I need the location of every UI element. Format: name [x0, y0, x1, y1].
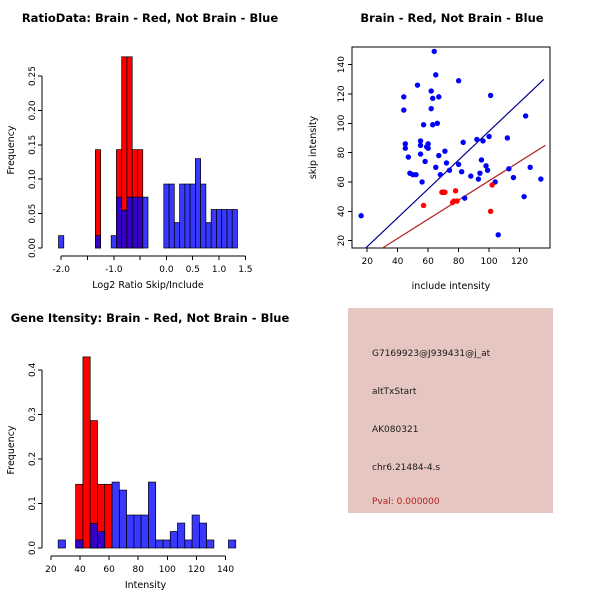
scatter-point	[447, 168, 452, 173]
scatter-point	[422, 159, 427, 164]
histogram-bar	[227, 209, 232, 248]
histogram-bar	[76, 484, 83, 548]
y-axis-label: Frequency	[6, 125, 17, 174]
x-axis-label: include intensity	[412, 281, 491, 292]
histogram-bar	[137, 197, 142, 248]
ratio-histogram-svg: RatioData: Brain - Red, Not Brain - Blue…	[0, 0, 300, 300]
figure-canvas: RatioData: Brain - Red, Not Brain - Blue…	[0, 0, 600, 600]
x-tick-label: 120	[188, 565, 205, 575]
scatter-point	[435, 121, 440, 126]
scatter-point	[488, 209, 493, 214]
coordinate-text: chr6.21484-4.s	[372, 463, 440, 473]
histogram-bar	[211, 209, 216, 248]
histogram-bar	[122, 210, 127, 248]
x-axis-label: Intensity	[125, 580, 167, 591]
ratio-histogram-title: RatioData: Brain - Red, Not Brain - Blue	[22, 11, 279, 25]
scatter-point	[477, 170, 482, 175]
histogram-bar	[112, 482, 119, 548]
scatter-point	[523, 113, 528, 118]
panel-intensity-scatter: Brain - Red, Not Brain - Blue 2040608010…	[300, 0, 600, 300]
plot-frame	[352, 47, 550, 248]
scatter-point	[418, 151, 423, 156]
scatter-point	[425, 141, 430, 146]
scatter-point	[413, 172, 418, 177]
pval-text: Pval: 0.000000	[372, 497, 440, 507]
scatter-point	[418, 143, 423, 148]
x-tick-label: 0.5	[186, 265, 200, 275]
scatter-point	[521, 194, 526, 199]
histogram-bar	[141, 515, 148, 548]
y-tick-label: 40	[337, 205, 347, 217]
gene-histogram-plot-area: 0.00.10.20.30.4Frequency2040608010012014…	[6, 357, 236, 591]
histogram-bar	[143, 197, 148, 248]
histogram-bar	[164, 184, 169, 248]
histogram-bar	[163, 540, 170, 548]
histogram-bar	[90, 524, 97, 549]
histogram-bar	[174, 223, 179, 248]
x-tick-label: -2.0	[52, 265, 70, 275]
histogram-bar	[228, 540, 235, 548]
scatter-inner	[358, 49, 545, 248]
scatter-point	[488, 93, 493, 98]
points-brain-red	[421, 182, 495, 214]
scatter-point	[436, 94, 441, 99]
y-tick-label: 20	[337, 235, 347, 247]
histogram-bar	[97, 532, 104, 548]
intensity-scatter-svg: Brain - Red, Not Brain - Blue 2040608010…	[300, 0, 600, 300]
series-brain-red	[76, 357, 112, 548]
scatter-point	[476, 176, 481, 181]
y-tick-label: 60	[337, 176, 347, 188]
histogram-bar	[95, 150, 100, 248]
scatter-point	[506, 166, 511, 171]
scatter-point	[358, 213, 363, 218]
histogram-bar	[148, 482, 155, 548]
histogram-bar	[132, 197, 137, 248]
scatter-point	[429, 106, 434, 111]
x-tick-label: 80	[453, 257, 465, 267]
scatter-point	[486, 134, 491, 139]
scatter-point	[442, 148, 447, 153]
scatter-point	[480, 138, 485, 143]
scatter-point	[436, 153, 441, 158]
histogram-bar	[111, 236, 116, 248]
y-tick-label: 0.2	[28, 452, 38, 466]
scatter-point	[421, 203, 426, 208]
ratio-histogram-plot-area: 0.000.050.100.150.200.25Frequency-2.0-1.…	[6, 57, 253, 291]
histogram-bar	[76, 540, 83, 548]
y-tick-label: 0.1	[28, 496, 38, 510]
scatter-point	[454, 198, 459, 203]
histogram-bar	[190, 184, 195, 248]
histogram-bar	[232, 209, 237, 248]
scatter-point	[462, 195, 467, 200]
accession-text: AK080321	[372, 425, 418, 435]
scatter-point	[432, 49, 437, 54]
scatter-point	[442, 190, 447, 195]
x-tick-label: 140	[217, 565, 234, 575]
y-tick-label: 0.3	[28, 407, 38, 421]
panel-ratio-histogram: RatioData: Brain - Red, Not Brain - Blue…	[0, 0, 300, 300]
x-tick-label: 0.0	[159, 265, 174, 275]
histogram-bar	[206, 223, 211, 248]
event-type-text: altTxStart	[372, 387, 416, 397]
y-tick-label: 0.0	[28, 541, 38, 556]
probe-id-text: G7169923@J939431@j_at	[372, 349, 490, 359]
scatter-point	[479, 157, 484, 162]
histogram-bar	[169, 184, 174, 248]
x-tick-label: 20	[362, 257, 374, 267]
histogram-bar	[170, 532, 177, 548]
y-axis-label: Frequency	[6, 425, 17, 474]
y-tick-label: 0.15	[28, 135, 38, 155]
y-tick-label: 0.00	[28, 238, 38, 258]
x-tick-label: 1.0	[212, 265, 227, 275]
y-tick-label: 140	[337, 56, 347, 73]
histogram-bar	[58, 540, 65, 548]
histogram-bar	[195, 159, 200, 248]
scatter-point	[453, 188, 458, 193]
points-not-brain-blue	[358, 49, 543, 238]
histogram-bar	[222, 209, 227, 248]
x-tick-label: 100	[159, 565, 176, 575]
scatter-point	[474, 137, 479, 142]
y-axis-label: skip intensity	[308, 115, 319, 179]
scatter-point	[505, 135, 510, 140]
x-tick-label: 100	[480, 257, 497, 267]
scatter-point	[433, 72, 438, 77]
x-tick-label: 1.5	[238, 265, 252, 275]
x-tick-label: 60	[103, 565, 115, 575]
x-tick-label: 120	[511, 257, 528, 267]
scatter-point	[460, 140, 465, 145]
histogram-bar	[105, 484, 112, 548]
histogram-bar	[185, 540, 192, 548]
scatter-point	[511, 175, 516, 180]
y-tick-label: 80	[337, 147, 347, 159]
histogram-bar	[127, 197, 132, 248]
scatter-plot-area: 20406080100120140skip intensity204060801…	[308, 47, 550, 292]
y-tick-label: 0.4	[28, 362, 38, 377]
gene-info-box: G7169923@J939431@j_at altTxStart AK08032…	[348, 308, 553, 513]
scatter-point	[430, 122, 435, 127]
x-tick-label: 80	[132, 565, 144, 575]
scatter-point	[415, 82, 420, 87]
histogram-bar	[127, 515, 134, 548]
histogram-bar	[119, 490, 126, 548]
scatter-point	[528, 165, 533, 170]
scatter-point	[433, 165, 438, 170]
scatter-point	[430, 96, 435, 101]
scatter-title: Brain - Red, Not Brain - Blue	[360, 11, 543, 25]
histogram-bar	[134, 515, 141, 548]
panel-gene-intensity-histogram: Gene Itensity: Brain - Red, Not Brain - …	[0, 300, 300, 600]
scatter-point	[429, 88, 434, 93]
gene-histogram-title: Gene Itensity: Brain - Red, Not Brain - …	[11, 311, 290, 325]
histogram-bar	[216, 209, 221, 248]
histogram-bar	[180, 184, 185, 248]
histogram-bar	[207, 540, 214, 548]
x-tick-label: -1.0	[105, 265, 123, 275]
scatter-point	[456, 78, 461, 83]
histogram-bar	[59, 236, 64, 248]
scatter-point	[456, 162, 461, 167]
y-tick-label: 120	[337, 85, 347, 102]
scatter-point	[489, 182, 494, 187]
histogram-bar	[185, 184, 190, 248]
scatter-point	[403, 146, 408, 151]
scatter-point	[406, 154, 411, 159]
histogram-bar	[83, 357, 90, 548]
x-tick-label: 20	[45, 565, 57, 575]
histogram-bar	[116, 197, 121, 248]
scatter-point	[438, 172, 443, 177]
scatter-point	[468, 173, 473, 178]
y-tick-label: 0.25	[28, 66, 38, 86]
scatter-point	[401, 107, 406, 112]
x-tick-label: 40	[74, 565, 86, 575]
series-not-brain-blue	[59, 159, 238, 248]
y-tick-label: 0.20	[28, 100, 38, 120]
scatter-point	[401, 94, 406, 99]
histogram-bar	[156, 540, 163, 548]
y-tick-label: 0.10	[28, 169, 38, 189]
y-tick-label: 100	[337, 114, 347, 131]
histogram-bar	[178, 523, 185, 548]
panel-gene-info: G7169923@J939431@j_at altTxStart AK08032…	[300, 300, 600, 600]
scatter-point	[459, 169, 464, 174]
histogram-bar	[95, 236, 100, 248]
x-axis-label: Log2 Ratio Skip/Include	[92, 280, 204, 291]
scatter-point	[421, 122, 426, 127]
scatter-point	[496, 232, 501, 237]
x-tick-label: 40	[392, 257, 404, 267]
x-tick-label: 60	[422, 257, 434, 267]
gene-histogram-svg: Gene Itensity: Brain - Red, Not Brain - …	[0, 300, 300, 600]
histogram-bar	[201, 184, 206, 248]
histogram-bar	[199, 523, 206, 548]
scatter-point	[419, 179, 424, 184]
histogram-bar	[192, 515, 199, 548]
scatter-point	[444, 160, 449, 165]
y-tick-label: 0.05	[28, 204, 38, 224]
scatter-point	[485, 168, 490, 173]
scatter-point	[538, 176, 543, 181]
